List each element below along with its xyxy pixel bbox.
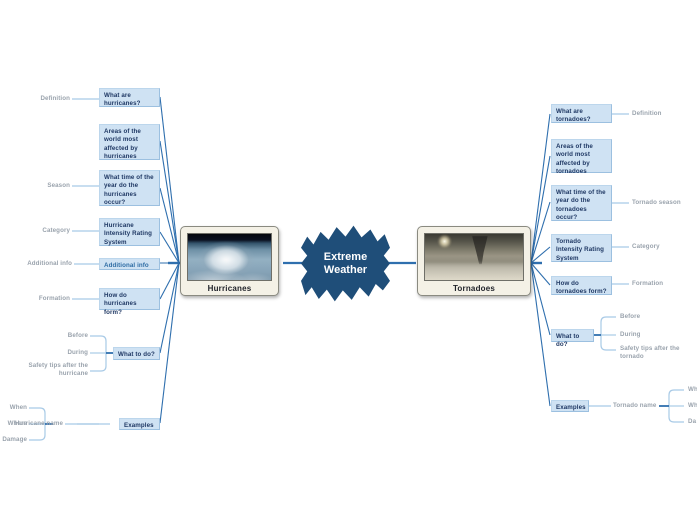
leaf-label-definition-left[interactable]: Definition [0,95,70,103]
topic-box-tornado-category[interactable]: Tornado Intensity Rating System [551,234,612,262]
topic-box-tornado-examples[interactable]: Examples [551,400,589,412]
topic-box-tornado-areas[interactable]: Areas of the world most affected by torn… [551,139,612,173]
leaf-label-season-left[interactable]: Season [0,182,70,190]
topic-box-tornado-definition[interactable]: What are tornadoes? [551,104,612,123]
leaf-label-before-right[interactable]: Before [620,313,640,321]
leaf-label-safety-tips-right[interactable]: Safety tips after the tornado [620,345,686,361]
hurricanes-card[interactable]: Hurricanes [180,226,279,296]
topic-box-hurricane-examples[interactable]: Examples [119,418,160,430]
leaf-label-category-right[interactable]: Category [632,243,660,251]
topic-box-tornado-season[interactable]: What time of the year do the tornadoes o… [551,185,612,221]
topic-box-tornado-what-to-do[interactable]: What to do? [551,329,594,342]
leaf-label-category-left[interactable]: Category [0,227,70,235]
leaf-label-tornado-season-right[interactable]: Tornado season [632,199,681,207]
tornadoes-card[interactable]: Tornadoes [417,226,531,296]
topic-box-hurricane-formation[interactable]: How do hurricanes form? [99,288,160,310]
leaf-label-tornado-name[interactable]: Tornado name [613,402,656,410]
leaf-label-during-right[interactable]: During [620,331,641,339]
mindmap-canvas: Extreme Weather Hurricanes Tornadoes Wha… [0,0,697,520]
leaf-label-where-right[interactable]: Wh [688,402,697,410]
tornado-funnel-photo [424,233,524,281]
topic-box-hurricane-season[interactable]: What time of the year do the hurricanes … [99,170,160,206]
leaf-label-before-left[interactable]: Before [10,332,88,340]
topic-box-hurricane-what-to-do[interactable]: What to do? [113,347,160,360]
tornadoes-card-caption: Tornadoes [424,281,524,293]
leaf-label-formation-left[interactable]: Formation [0,295,70,303]
leaf-label-damage-right[interactable]: Da [688,418,696,426]
topic-box-tornado-formation[interactable]: How do tornadoes form? [551,276,612,295]
topic-box-hurricane-definition[interactable]: What are hurricanes? [99,88,160,107]
leaf-label-definition-right[interactable]: Definition [632,110,662,118]
leaf-label-during-left[interactable]: During [10,349,88,357]
leaf-label-additional-info-left[interactable]: Additional info [0,260,72,268]
leaf-label-where-left[interactable]: Where [0,420,27,428]
topic-box-hurricane-areas[interactable]: Areas of the world most affected by hurr… [99,124,160,160]
central-topic-label: Extreme Weather [301,251,390,277]
hurricanes-card-caption: Hurricanes [187,281,272,293]
central-topic-extreme-weather[interactable]: Extreme Weather [301,224,390,303]
leaf-label-when-right[interactable]: Wh [688,386,697,394]
leaf-label-formation-right[interactable]: Formation [632,280,663,288]
topic-box-hurricane-additional-info[interactable]: Additional info [99,258,160,270]
leaf-label-damage-left[interactable]: Damage [0,436,27,444]
leaf-label-safety-tips-left[interactable]: Safety tips after the hurricane [26,362,88,378]
topic-box-hurricane-category[interactable]: Hurricane Intensity Rating System [99,218,160,246]
hurricane-satellite-photo [187,233,272,281]
leaf-label-when-left[interactable]: When [0,404,27,412]
